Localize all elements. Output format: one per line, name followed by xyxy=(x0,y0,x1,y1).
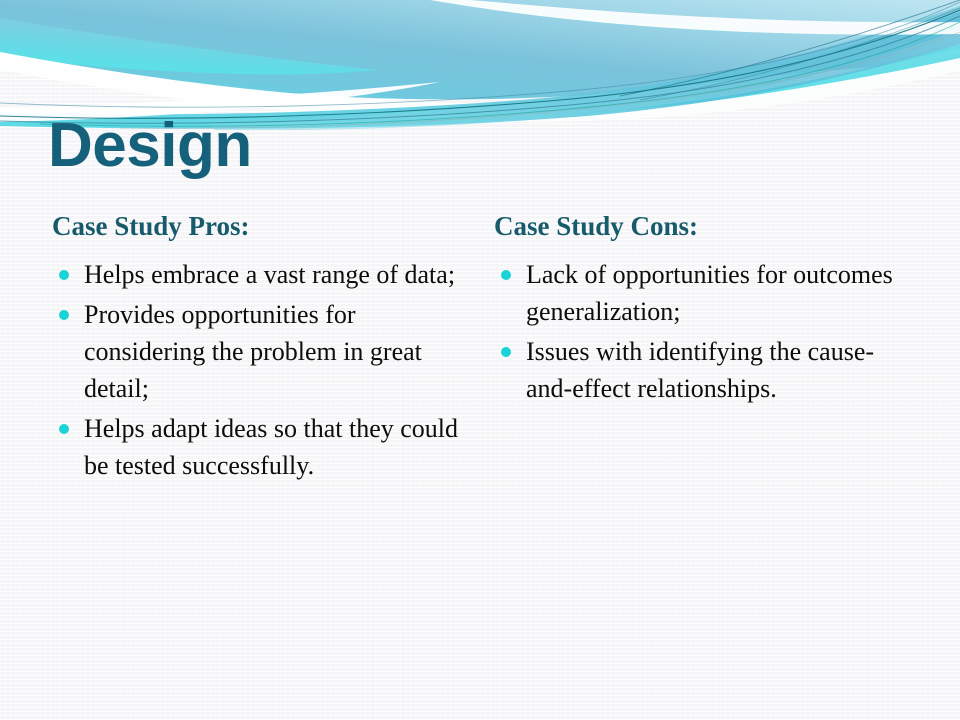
bullet-dot-icon xyxy=(59,270,69,280)
cons-column-heading: Case Study Cons: xyxy=(494,212,920,242)
list-item: Issues with identifying the cause-and-ef… xyxy=(490,333,920,407)
bullet-dot-icon xyxy=(59,310,69,320)
list-item-text: Helps adapt ideas so that they could be … xyxy=(84,414,458,480)
bullet-dot-icon xyxy=(59,424,69,434)
bullet-dot-icon xyxy=(501,270,511,280)
list-item: Helps embrace a vast range of data; xyxy=(48,256,478,293)
list-item-text: Helps embrace a vast range of data; xyxy=(84,260,455,289)
list-item-text: Provides opportunities for considering t… xyxy=(84,300,422,403)
list-item-text: Issues with identifying the cause-and-ef… xyxy=(526,337,874,403)
pros-column: Case Study Pros: Helps embrace a vast ra… xyxy=(48,212,478,487)
page-title: Design xyxy=(48,113,252,178)
list-item-text: Lack of opportunities for outcomes gener… xyxy=(526,260,893,326)
slide: Design Case Study Pros: Helps embrace a … xyxy=(0,0,960,720)
pros-column-heading: Case Study Pros: xyxy=(52,212,478,242)
bullet-dot-icon xyxy=(501,347,511,357)
list-item: Lack of opportunities for outcomes gener… xyxy=(490,256,920,330)
list-item: Provides opportunities for considering t… xyxy=(48,296,478,407)
pros-bullet-list: Helps embrace a vast range of data; Prov… xyxy=(48,256,478,484)
cons-column: Case Study Cons: Lack of opportunities f… xyxy=(490,212,920,410)
list-item: Helps adapt ideas so that they could be … xyxy=(48,410,478,484)
cons-bullet-list: Lack of opportunities for outcomes gener… xyxy=(490,256,920,407)
